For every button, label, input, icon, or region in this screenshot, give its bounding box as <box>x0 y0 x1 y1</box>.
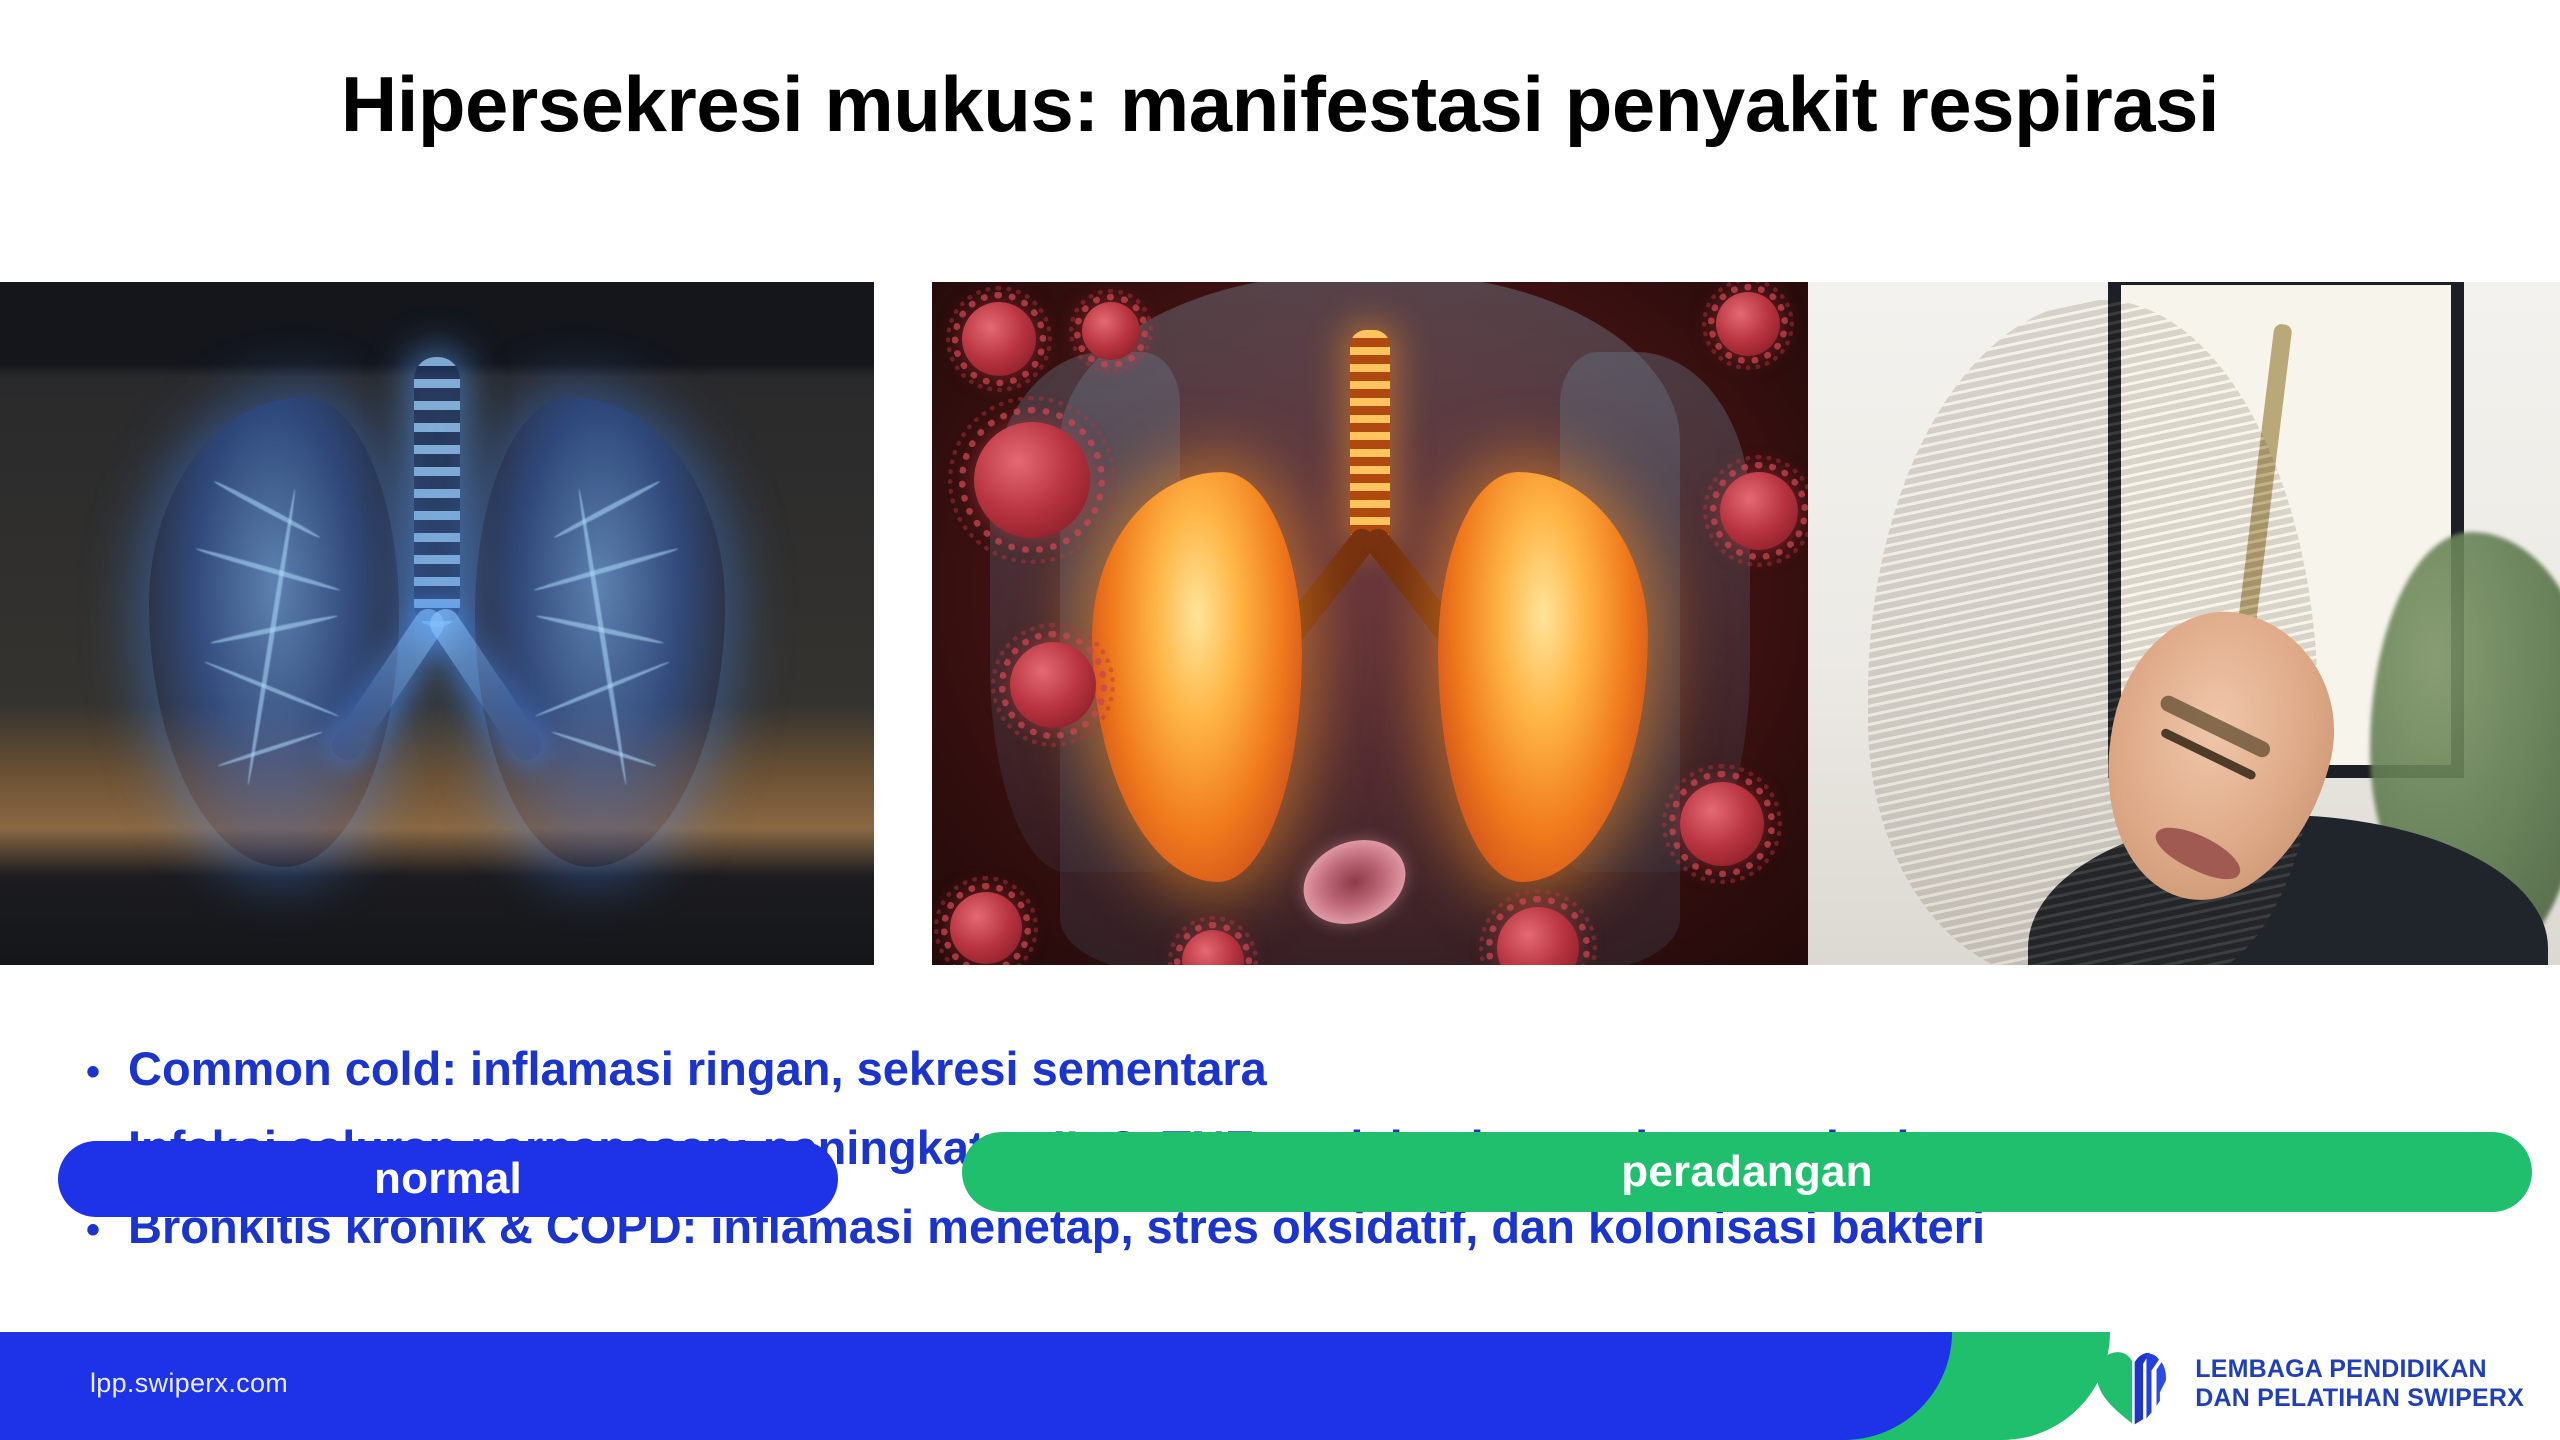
virus-particle-icon <box>1182 930 1244 965</box>
lung-illustration-icon <box>127 357 747 917</box>
heart-book-logo-icon <box>2091 1342 2175 1426</box>
open-mouth <box>2149 818 2247 889</box>
brand-logo-line-1: LEMBAGA PENDIDIKAN <box>2195 1355 2487 1383</box>
list-item-label: Common cold: inflamasi ringan, sekresi s… <box>128 1045 1267 1092</box>
lung-lobe-right <box>475 397 725 867</box>
list-item: • Common cold: inflamasi ringan, sekresi… <box>86 1045 2506 1092</box>
brand-logo: LEMBAGA PENDIDIKAN DAN PELATIHAN SWIPERX <box>2091 1342 2524 1426</box>
virus-particle-icon <box>1082 302 1140 360</box>
coughing-woman-photo <box>1808 282 2560 965</box>
image-row: normal peradangan <box>0 282 2560 965</box>
inflamed-lungs-photo <box>932 282 1808 965</box>
lung-lobe-left <box>149 397 399 867</box>
virus-particle-icon <box>1680 782 1764 866</box>
virus-particle-icon <box>974 422 1090 538</box>
virus-particle-icon <box>1720 472 1798 550</box>
trachea-inflamed-shape <box>1350 330 1390 545</box>
virus-particle-icon <box>1010 642 1096 728</box>
image-card-coughing-woman <box>1808 282 2560 965</box>
image-card-inflamed-lungs <box>932 282 1808 965</box>
footer-bar: lpp.swiperx.com LEMBAGA PENDIDIKAN DAN P… <box>0 1332 2560 1440</box>
image-card-normal-lungs <box>0 282 874 965</box>
badge-peradangan: peradangan <box>962 1132 2532 1212</box>
trachea-shape <box>414 357 460 627</box>
bullet-dot-icon: • <box>86 1052 128 1092</box>
virus-particle-icon <box>950 892 1022 964</box>
brand-logo-line-2: DAN PELATIHAN SWIPERX <box>2195 1384 2524 1412</box>
normal-lungs-photo <box>0 282 874 965</box>
badge-normal: normal <box>58 1141 838 1217</box>
page-title: Hipersekresi mukus: manifestasi penyakit… <box>0 60 2560 150</box>
virus-particle-icon <box>1716 292 1780 356</box>
footer-url[interactable]: lpp.swiperx.com <box>90 1368 288 1399</box>
virus-particle-icon <box>962 302 1036 376</box>
eyebrow <box>2158 693 2273 760</box>
virus-particle-icon <box>1497 907 1579 965</box>
footer-blue-shape <box>0 1332 1952 1440</box>
brand-logo-text: LEMBAGA PENDIDIKAN DAN PELATIHAN SWIPERX <box>2195 1355 2524 1414</box>
